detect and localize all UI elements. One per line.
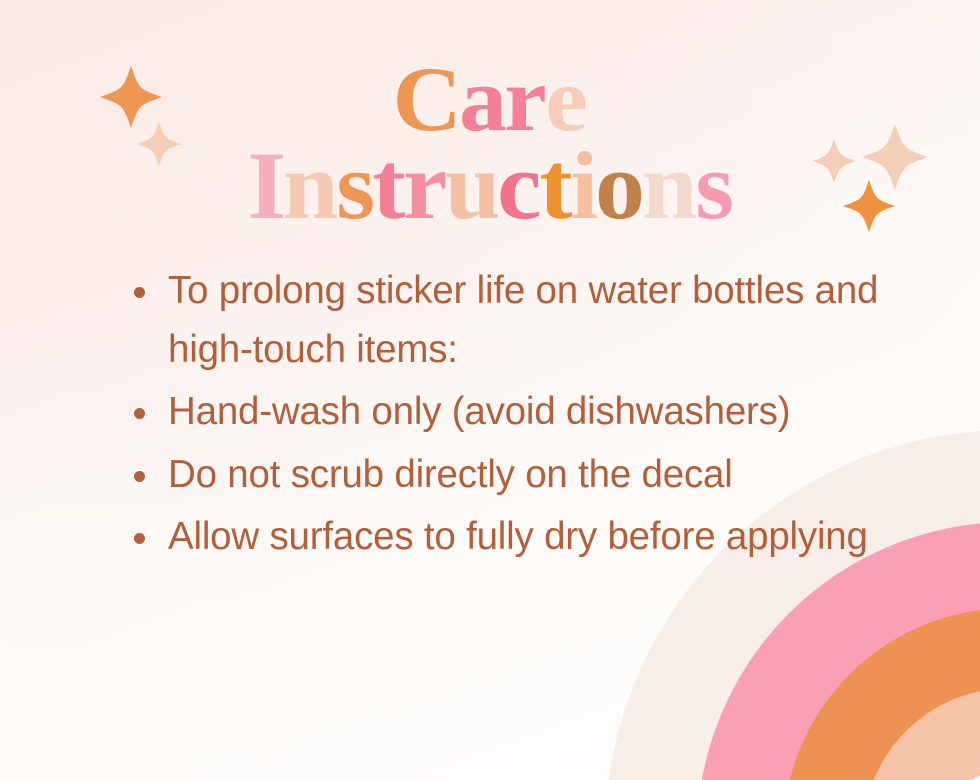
title-instructions-letter-1: n [283,140,337,232]
care-instruction-item: Hand-wash only (avoid dishwashers) [126,383,966,442]
title-instructions-letter-6: c [497,140,540,232]
title-instructions-letter-3: t [372,140,404,232]
title-instructions-letter-9: o [595,140,644,232]
title-instructions-letter-8: i [570,140,597,232]
title-care-letter-0: C [393,55,462,143]
title-instructions-letter-4: r [403,140,446,232]
title-line-instructions: Instructions [0,140,980,232]
title-instructions-letter-7: t [539,140,571,232]
title-instructions-letter-10: n [642,140,696,232]
title-instructions-letter-5: u [445,140,499,232]
page-title: Care Instructions [0,55,980,231]
care-instructions-list: To prolong sticker life on water bottles… [126,262,966,571]
care-instruction-item: Allow surfaces to fully dry before apply… [126,508,966,567]
title-care-letter-1: a [459,55,506,143]
title-line-care: Care [0,55,980,143]
care-instructions-poster: Care Instructions To prolong sticker lif… [0,0,980,780]
title-instructions-letter-11: s [695,140,733,232]
title-care-letter-2: r [505,55,547,143]
care-instruction-item: Do not scrub directly on the decal [126,446,966,505]
care-instruction-item: To prolong sticker life on water bottles… [126,262,966,379]
title-instructions-letter-2: s [336,140,374,232]
title-care-letter-3: e [545,55,587,143]
title-instructions-letter-0: I [247,140,285,232]
